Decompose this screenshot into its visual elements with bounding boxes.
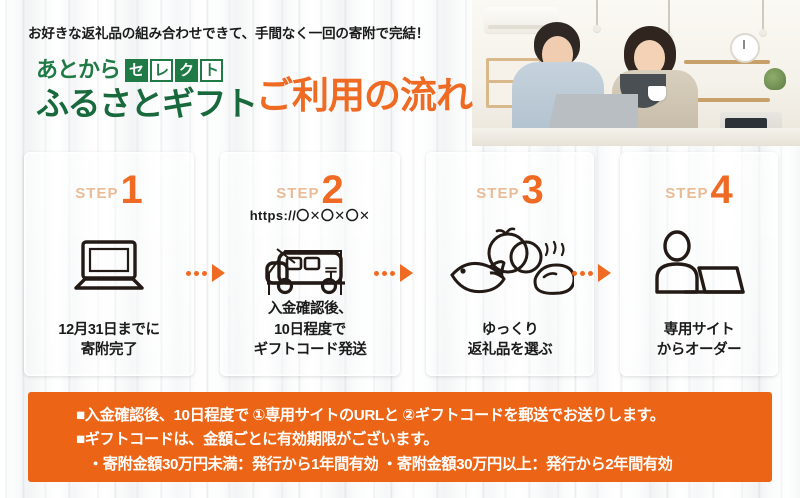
step-number-2: 2 [321,173,343,207]
step-caption-1-line-1: 12月31日までに [25,320,193,341]
logo-select-boxes: セ レ ク ト [125,59,223,82]
step-caption-2-line-3: ギフトコード発送 [221,340,399,361]
kitchen-counter [472,128,800,146]
step-caption-3: ゆっくり 返礼品を選ぶ [427,320,593,361]
arrow-dot [202,271,207,276]
footer-line-2: ■ギフトコードは、金額ごとに有効期限がございます。 [76,427,438,449]
wall-shelf-lower [690,98,770,102]
step-arrow-2 [374,264,413,282]
pendant-light [668,0,670,34]
step-caption-4-line-1: 専用サイト [621,320,777,341]
logo-box-se: セ [125,59,148,82]
step-caption-1-line-2: 寄附完了 [25,340,193,361]
step-word-1: STEP [75,185,118,207]
logo-furusato-gift-text: ふるさとギフト [36,87,257,120]
step-caption-2: 入金確認後、 10日程度で ギフトコード発送 [221,299,399,361]
wall-clock-icon [730,33,760,63]
arrow-dot [194,271,199,276]
arrow-dot [580,271,585,276]
step-number-4: 4 [710,173,732,207]
wall-shelf-upper [684,60,770,64]
logo-box-re: レ [150,59,173,82]
step-card-2: STEP 2 https://〇✕〇✕〇✕ 〒 [220,152,400,376]
step-label-2: STEP 2 [221,167,399,207]
arrow-triangle-icon [400,264,413,282]
arrow-dot [588,271,593,276]
brand-logo: あとから セ レ ク ト ふるさとギフト [36,56,257,120]
step-label-3: STEP 3 [427,167,593,207]
step-caption-3-line-1: ゆっくり [427,320,593,341]
laptop-icon [25,225,193,307]
step-word-2: STEP [276,185,319,207]
footer-line-1: ■入金確認後、10日程度で ①専用サイトのURLと ②ギフトコードを郵送でお送り… [76,403,665,425]
step-caption-4-line-2: からオーダー [621,340,777,361]
step-label-1: STEP 1 [25,167,193,207]
step-arrow-1 [186,264,225,282]
step-caption-3-line-2: 返礼品を選ぶ [427,340,593,361]
step-label-4: STEP 4 [621,167,777,207]
step-caption-2-line-1: 入金確認後、 [221,299,399,320]
arrow-dot [186,271,191,276]
step-caption-1: 12月31日までに 寄附完了 [25,320,193,361]
promo-banner: お好きな返礼品の組み合わせできて、手間なく一回の寄附で完結！ あとから セ レ … [0,0,800,498]
potted-plant [764,68,786,90]
tagline: お好きな返礼品の組み合わせできて、手間なく一回の寄附で完結！ [28,22,472,42]
arrow-triangle-icon [212,264,225,282]
logo-box-ku: ク [175,59,198,82]
arrow-triangle-icon [598,264,611,282]
arrow-dot [382,271,387,276]
footer-notice-band: ■入金確認後、10日程度で ①専用サイトのURLと ②ギフトコードを郵送でお送り… [28,392,772,482]
page-title: ご利用の流れ [256,76,472,117]
step-word-4: STEP [665,185,708,207]
step-caption-4: 専用サイト からオーダー [621,320,777,361]
arrow-dot [390,271,395,276]
pendant-light [762,0,764,30]
person-laptop-icon [621,225,777,307]
coffee-cup [648,86,666,101]
step-number-3: 3 [521,173,543,207]
logo-atokara-text: あとから [36,59,120,81]
step-number-1: 1 [120,173,142,207]
step-caption-2-line-2: 10日程度で [221,320,399,341]
footer-line-3: ・寄附金額30万円未満：発行から1年間有効 ・寄附金額30万円以上：発行から2年… [88,452,672,474]
url-bubble-text: https://〇✕〇✕〇✕ [221,205,399,224]
step-word-3: STEP [476,185,519,207]
step-card-1: STEP 1 12月31日までに 寄附完了 [24,152,194,376]
kitchen-couple-photo [472,0,800,146]
step-arrow-3 [572,264,611,282]
logo-line-1: あとから セ レ ク ト [36,56,257,84]
logo-box-to: ト [200,59,223,82]
steps-container: STEP 1 12月31日までに 寄附完了 STEP 2 https://〇✕〇… [24,152,776,374]
pendant-light [596,0,598,26]
postal-van-icon: 〒 [221,225,399,307]
step-card-4: STEP 4 専用サイト からオーダー [620,152,778,376]
arrow-dot [572,271,577,276]
step-card-3: STEP 3 ゆっくり 返礼品を選ぶ [426,152,594,376]
food-selection-icon [427,225,593,307]
arrow-dot [374,271,379,276]
